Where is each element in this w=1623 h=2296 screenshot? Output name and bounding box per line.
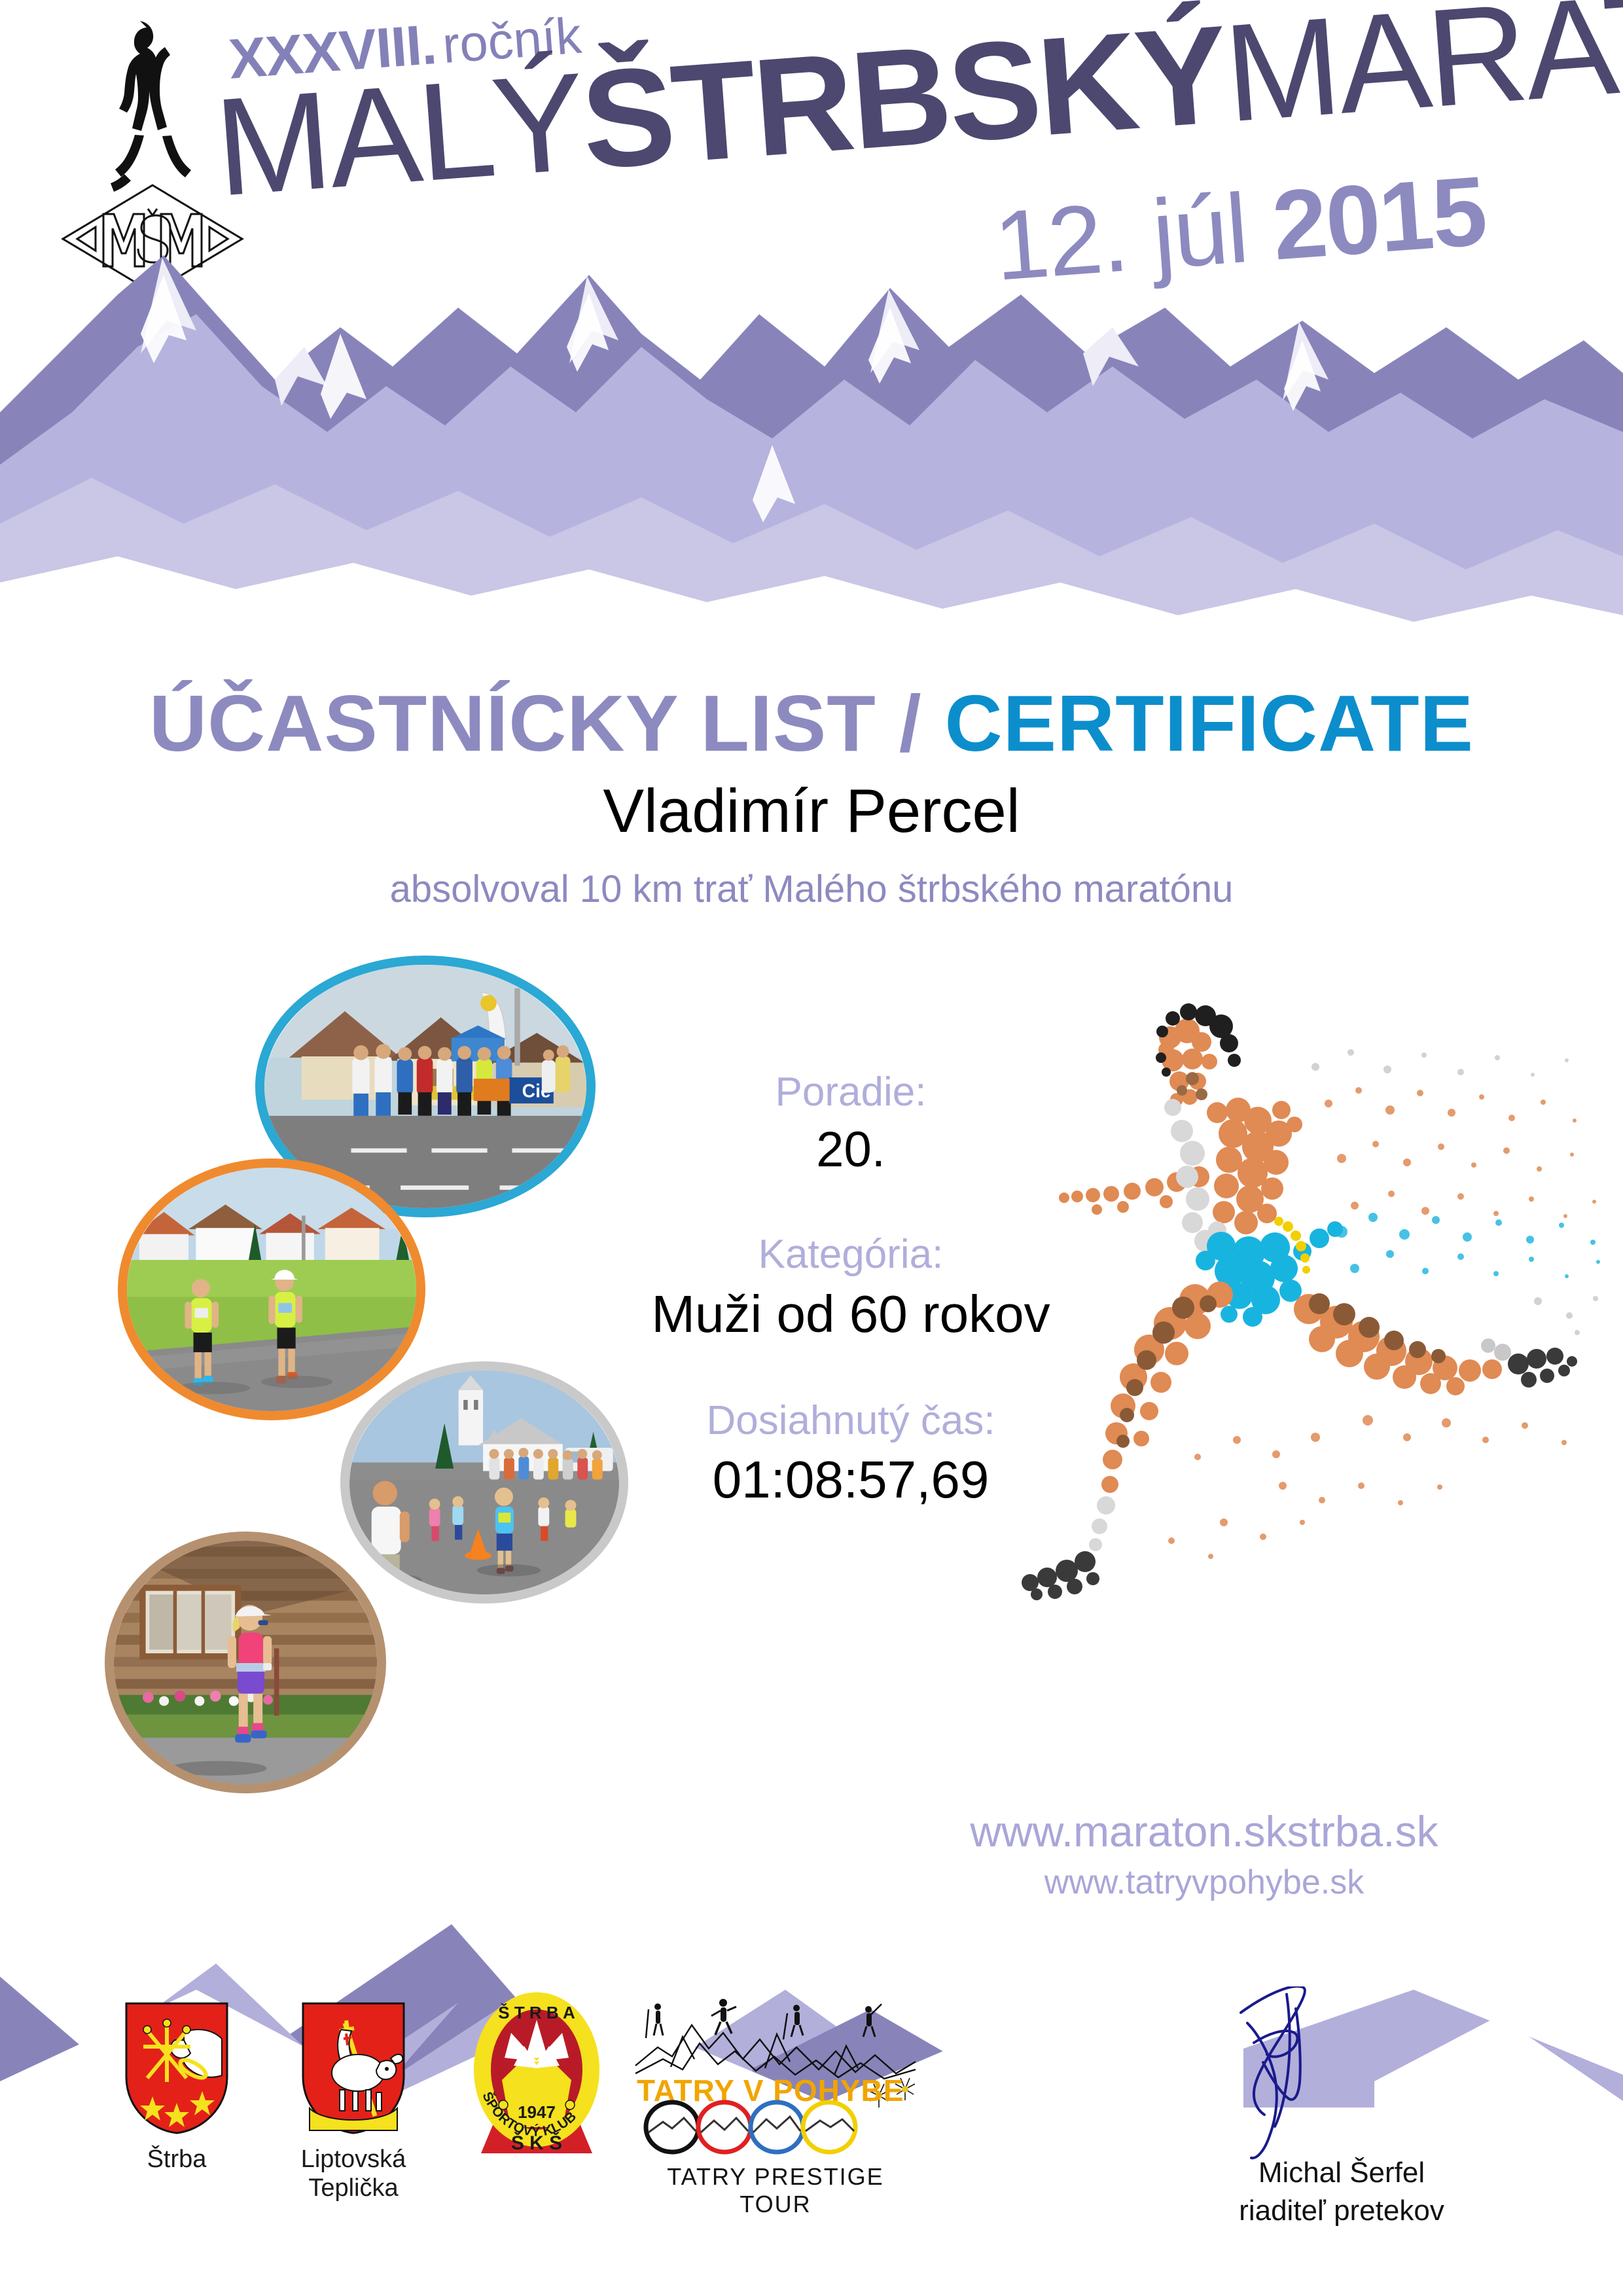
title-maly: MALÝ (210, 43, 588, 224)
footer: Štrba Liptovská T (0, 1983, 1623, 2296)
sks-crest-year: 1947 (518, 2102, 556, 2122)
sks-strba-logo-icon: Š T R B A 1947 Š K Š ŠPORTOVÝ KLUB (461, 1990, 612, 2160)
athlete-description: absolvoval 10 km trať Malého štrbského m… (0, 867, 1623, 911)
title-separator: / (876, 679, 945, 768)
title-english: CERTIFICATE (945, 679, 1474, 768)
title-slovak: ÚČASTNÍCKY LIST (149, 679, 876, 768)
page-title: ÚČASTNÍCKY LIST / CERTIFICATE (0, 677, 1623, 769)
particle-runner-graphic (1001, 969, 1616, 1767)
sks-crest-top: Š T R B A (498, 2003, 575, 2022)
photo-collage: Cie (92, 942, 635, 1813)
sponsor-liptovska-teplicka: Liptovská Teplička (262, 2000, 445, 2202)
liptovska-teplicka-crest-icon (298, 2000, 409, 2137)
sponsor-caption: Štrba (92, 2145, 262, 2174)
photo-runners-road (118, 1158, 425, 1420)
header: XXXVIII.ročník MALÝŠTRBSKÝMARATÓN 12. jú… (0, 0, 1623, 655)
tatry-v-pohybe-logo-icon: TATRY V POHYBE (632, 1996, 919, 2160)
mountain-range-graphic (0, 216, 1623, 655)
signature-name: Michal Šerfel (1113, 2157, 1571, 2189)
link-primary[interactable]: www.maraton.skstrba.sk (838, 1806, 1571, 1856)
sponsor-caption-line2: Teplička (262, 2174, 445, 2203)
athlete-name: Vladimír Percel (0, 776, 1623, 846)
sponsor-caption-line1: Liptovská (262, 2145, 445, 2174)
signature-icon (1191, 1986, 1414, 2163)
photo-woman-runner (105, 1532, 386, 1793)
sponsor-sks-strba: Š T R B A 1947 Š K Š ŠPORTOVÝ KLUB (452, 1990, 622, 2163)
strba-crest-icon (121, 2000, 232, 2137)
title-strbsky: ŠTRBSKÝ (577, 0, 1231, 198)
photo-kids-race (340, 1361, 628, 1604)
sponsor-tatry: TATRY V POHYBE TATRY PRESTIGE TOUR (628, 1996, 923, 2218)
tatry-prestige-tour-label: TATRY PRESTIGE TOUR (628, 2163, 923, 2218)
sponsor-strba: Štrba (92, 2000, 262, 2174)
title-maraton: MARATÓN (1219, 0, 1623, 151)
signature-role: riaditeľ pretekov (1113, 2195, 1571, 2227)
